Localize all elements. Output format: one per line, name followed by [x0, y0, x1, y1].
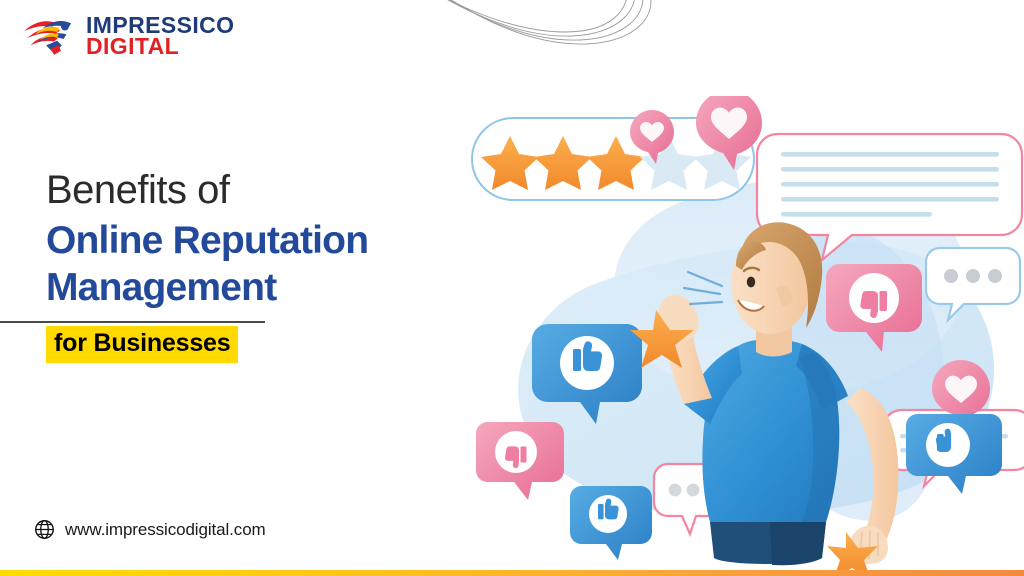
globe-icon: [34, 519, 55, 540]
logo-text-bottom: DIGITAL: [86, 36, 234, 57]
thumbs-up-bubble-small-left: [570, 486, 652, 560]
headline-line-3: Management: [46, 264, 466, 312]
online-reputation-management-illustration: [470, 96, 1024, 570]
gradient-accent-bar: [0, 570, 1024, 576]
headline-divider: [0, 321, 265, 323]
headline-line-4-highlighted: for Businesses: [46, 326, 238, 363]
brand-logo[interactable]: IMPRESSICO DIGITAL: [22, 14, 234, 58]
poster-canvas: IMPRESSICO DIGITAL Benefits of Online Re…: [0, 0, 1024, 576]
headline-highlight-wrap: for Businesses: [46, 326, 238, 363]
footer-url-text: www.impressicodigital.com: [65, 520, 266, 540]
headline-line-1: Benefits of: [46, 168, 466, 213]
headline-line-2: Online Reputation: [46, 217, 466, 265]
thumbs-down-bubble-pink-left: [476, 422, 564, 500]
three-dots-icon: [944, 269, 1002, 283]
decorative-swirl-lines: [390, 0, 690, 60]
running-figure-logo-icon: [22, 14, 78, 58]
headline-block: Benefits of Online Reputation Management: [46, 168, 466, 312]
footer-website[interactable]: www.impressicodigital.com: [34, 519, 266, 540]
